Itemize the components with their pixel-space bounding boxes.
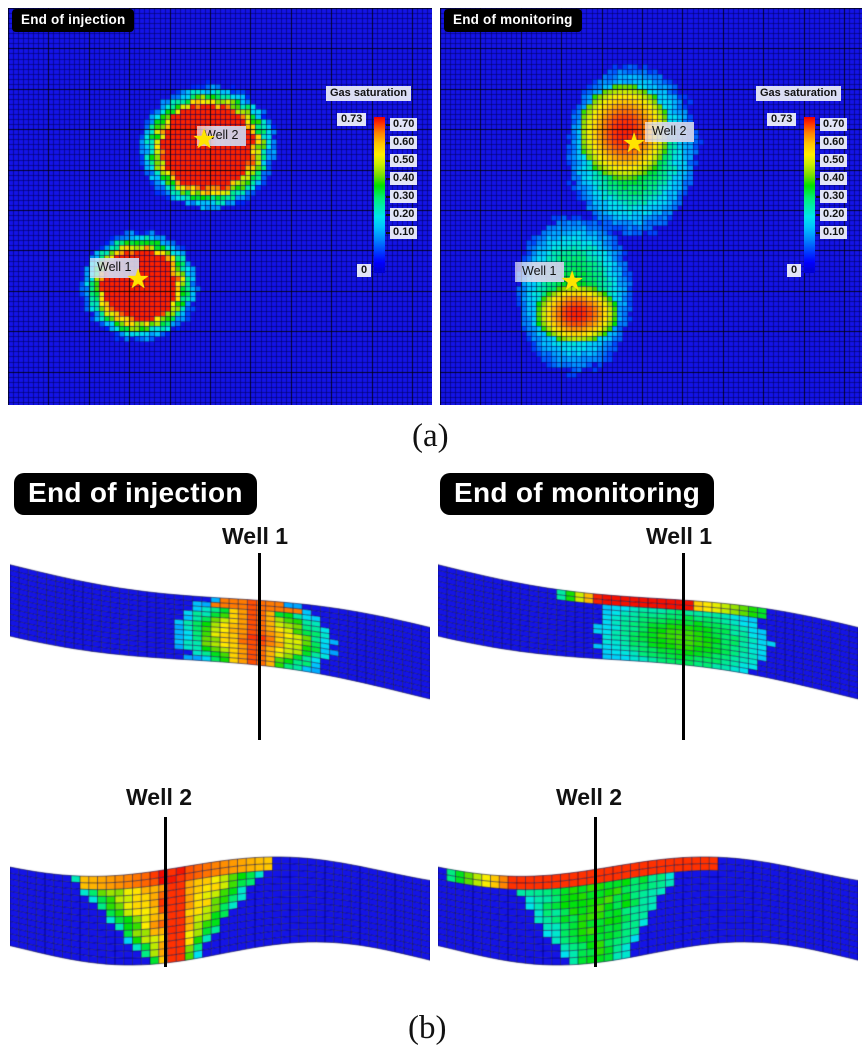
xsec-canvas-well1-injection	[10, 540, 430, 755]
colorbar-max-label-right: 0.73	[767, 113, 796, 126]
figure-root: End of injection Well 2 ★ Well 1 ★ Gas s…	[0, 0, 868, 1059]
colorbar-tick-right-040: 0.40	[820, 172, 847, 185]
colorbar-right: Gas saturation 0.73 0 0.70 0.60 0.50 0.4…	[756, 86, 856, 286]
xsec-canvas-well2-monitoring	[438, 830, 858, 1015]
colorbar-tick-060: 0.60	[390, 136, 417, 149]
panel-title-badge-b-right: End of monitoring	[440, 473, 714, 515]
colorbar-tick-right-020: 0.20	[820, 208, 847, 221]
colorbar-tick-050: 0.50	[390, 154, 417, 167]
colorbar-min-label: 0	[357, 264, 371, 277]
colorbar-title: Gas saturation	[326, 86, 411, 101]
colorbar-tick-right-030: 0.30	[820, 190, 847, 203]
panel-title-badge-a-right: End of monitoring	[444, 9, 582, 32]
well-star-a-left-well2: ★	[192, 126, 216, 153]
well-label-b-top-left: Well 1	[222, 524, 288, 549]
colorbar-gradient	[374, 117, 385, 273]
panel-xsec-well1-injection	[10, 540, 430, 755]
panel-xsec-well2-monitoring	[438, 830, 858, 1015]
well-tag-a-right-well1: Well 1	[515, 262, 564, 282]
well-star-a-left-well1: ★	[126, 266, 150, 293]
panel-title-badge-b-left: End of injection	[14, 473, 257, 515]
colorbar-tick-010: 0.10	[390, 226, 417, 239]
colorbar-tick-020: 0.20	[390, 208, 417, 221]
colorbar-max-label: 0.73	[337, 113, 366, 126]
panel-xsec-well2-injection	[10, 830, 430, 1015]
colorbar-gradient-right	[804, 117, 815, 273]
well-leader-line-b-top-left	[258, 553, 261, 740]
colorbar-tick-right-050: 0.50	[820, 154, 847, 167]
colorbar-tick-right-010: 0.10	[820, 226, 847, 239]
colorbar-tick-030: 0.30	[390, 190, 417, 203]
subfigure-caption-b: (b)	[408, 1012, 446, 1045]
well-tag-a-right-well2: Well 2	[645, 122, 694, 142]
colorbar-min-label-right: 0	[787, 264, 801, 277]
colorbar-left: Gas saturation 0.73 0 0.70 0.60 0.50 0.4…	[326, 86, 426, 286]
colorbar-tick-070: 0.70	[390, 118, 417, 131]
well-label-b-top-right: Well 1	[646, 524, 712, 549]
subfigure-caption-a: (a)	[412, 420, 449, 453]
well-leader-line-b-top-right	[682, 553, 685, 740]
well-label-b-bot-left: Well 2	[126, 785, 192, 810]
well-star-a-right-well2: ★	[622, 130, 646, 157]
panel-title-badge-a-left: End of injection	[12, 9, 134, 32]
well-leader-line-b-bot-right	[594, 817, 597, 967]
xsec-canvas-well1-monitoring	[438, 540, 858, 755]
well-star-a-right-well1: ★	[560, 268, 584, 295]
well-label-b-bot-right: Well 2	[556, 785, 622, 810]
colorbar-tick-right-070: 0.70	[820, 118, 847, 131]
well-leader-line-b-bot-left	[164, 817, 167, 967]
panel-xsec-well1-monitoring	[438, 540, 858, 755]
colorbar-title-right: Gas saturation	[756, 86, 841, 101]
colorbar-tick-right-060: 0.60	[820, 136, 847, 149]
xsec-canvas-well2-injection	[10, 830, 430, 1015]
colorbar-tick-040: 0.40	[390, 172, 417, 185]
